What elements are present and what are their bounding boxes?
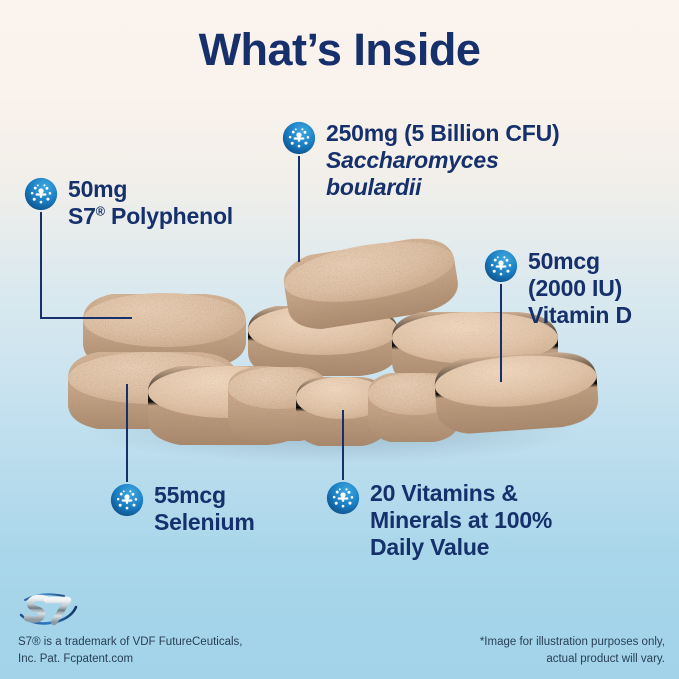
callout-line-2: Selenium <box>154 509 255 535</box>
trademark-line-1: S7® is a trademark of VDF FutureCeutical… <box>18 634 243 651</box>
callout-vitamins-minerals: 20 Vitamins & Minerals at 100% Daily Val… <box>326 480 552 561</box>
trademark-notice: S7® is a trademark of VDF FutureCeutical… <box>18 634 243 667</box>
callout-line-3: Vitamin D <box>528 302 632 328</box>
disclaimer-line-2: actual product will vary. <box>480 651 665 668</box>
callout-polyphenol: 50mg S7® Polyphenol <box>24 176 233 230</box>
molecule-icon <box>484 249 518 283</box>
callout-label-vitamins-minerals: 20 Vitamins & Minerals at 100% Daily Val… <box>370 480 552 561</box>
s7-logo <box>18 590 80 630</box>
callout-line-2: Saccharomyces <box>326 147 499 173</box>
callout-line-2: (2000 IU) <box>528 275 622 301</box>
molecule-icon <box>24 177 58 211</box>
infographic-canvas: What’s Inside <box>0 0 679 679</box>
callout-line-1: 20 Vitamins & <box>370 480 518 506</box>
molecule-icon <box>282 121 316 155</box>
leader-lines <box>0 0 679 679</box>
callout-line-1: 55mcg <box>154 482 226 508</box>
callout-line-2: Minerals at 100% <box>370 507 552 533</box>
callout-label-vitamin-d: 50mcg (2000 IU) Vitamin D <box>528 248 632 329</box>
image-disclaimer: *Image for illustration purposes only, a… <box>480 634 665 667</box>
callout-saccharomyces: 250mg (5 Billion CFU) Saccharomyces boul… <box>282 120 560 201</box>
callout-line-3: boulardii <box>326 174 421 200</box>
disclaimer-line-1: *Image for illustration purposes only, <box>480 634 665 651</box>
callout-label-polyphenol: 50mg S7® Polyphenol <box>68 176 233 230</box>
callout-line-3: Daily Value <box>370 534 489 560</box>
callout-line-2: S7® Polyphenol <box>68 203 233 229</box>
trademark-line-2: Inc. Pat. Fcpatent.com <box>18 651 243 668</box>
molecule-icon <box>110 483 144 517</box>
molecule-icon <box>326 481 360 515</box>
callout-label-selenium: 55mcg Selenium <box>154 482 255 536</box>
callout-selenium: 55mcg Selenium <box>110 482 255 536</box>
callout-line-1: 50mg <box>68 176 127 202</box>
callout-vitamin-d: 50mcg (2000 IU) Vitamin D <box>484 248 632 329</box>
callout-label-saccharomyces: 250mg (5 Billion CFU) Saccharomyces boul… <box>326 120 560 201</box>
callout-line-1: 250mg (5 Billion CFU) <box>326 120 560 146</box>
callout-line-1: 50mcg <box>528 248 600 274</box>
